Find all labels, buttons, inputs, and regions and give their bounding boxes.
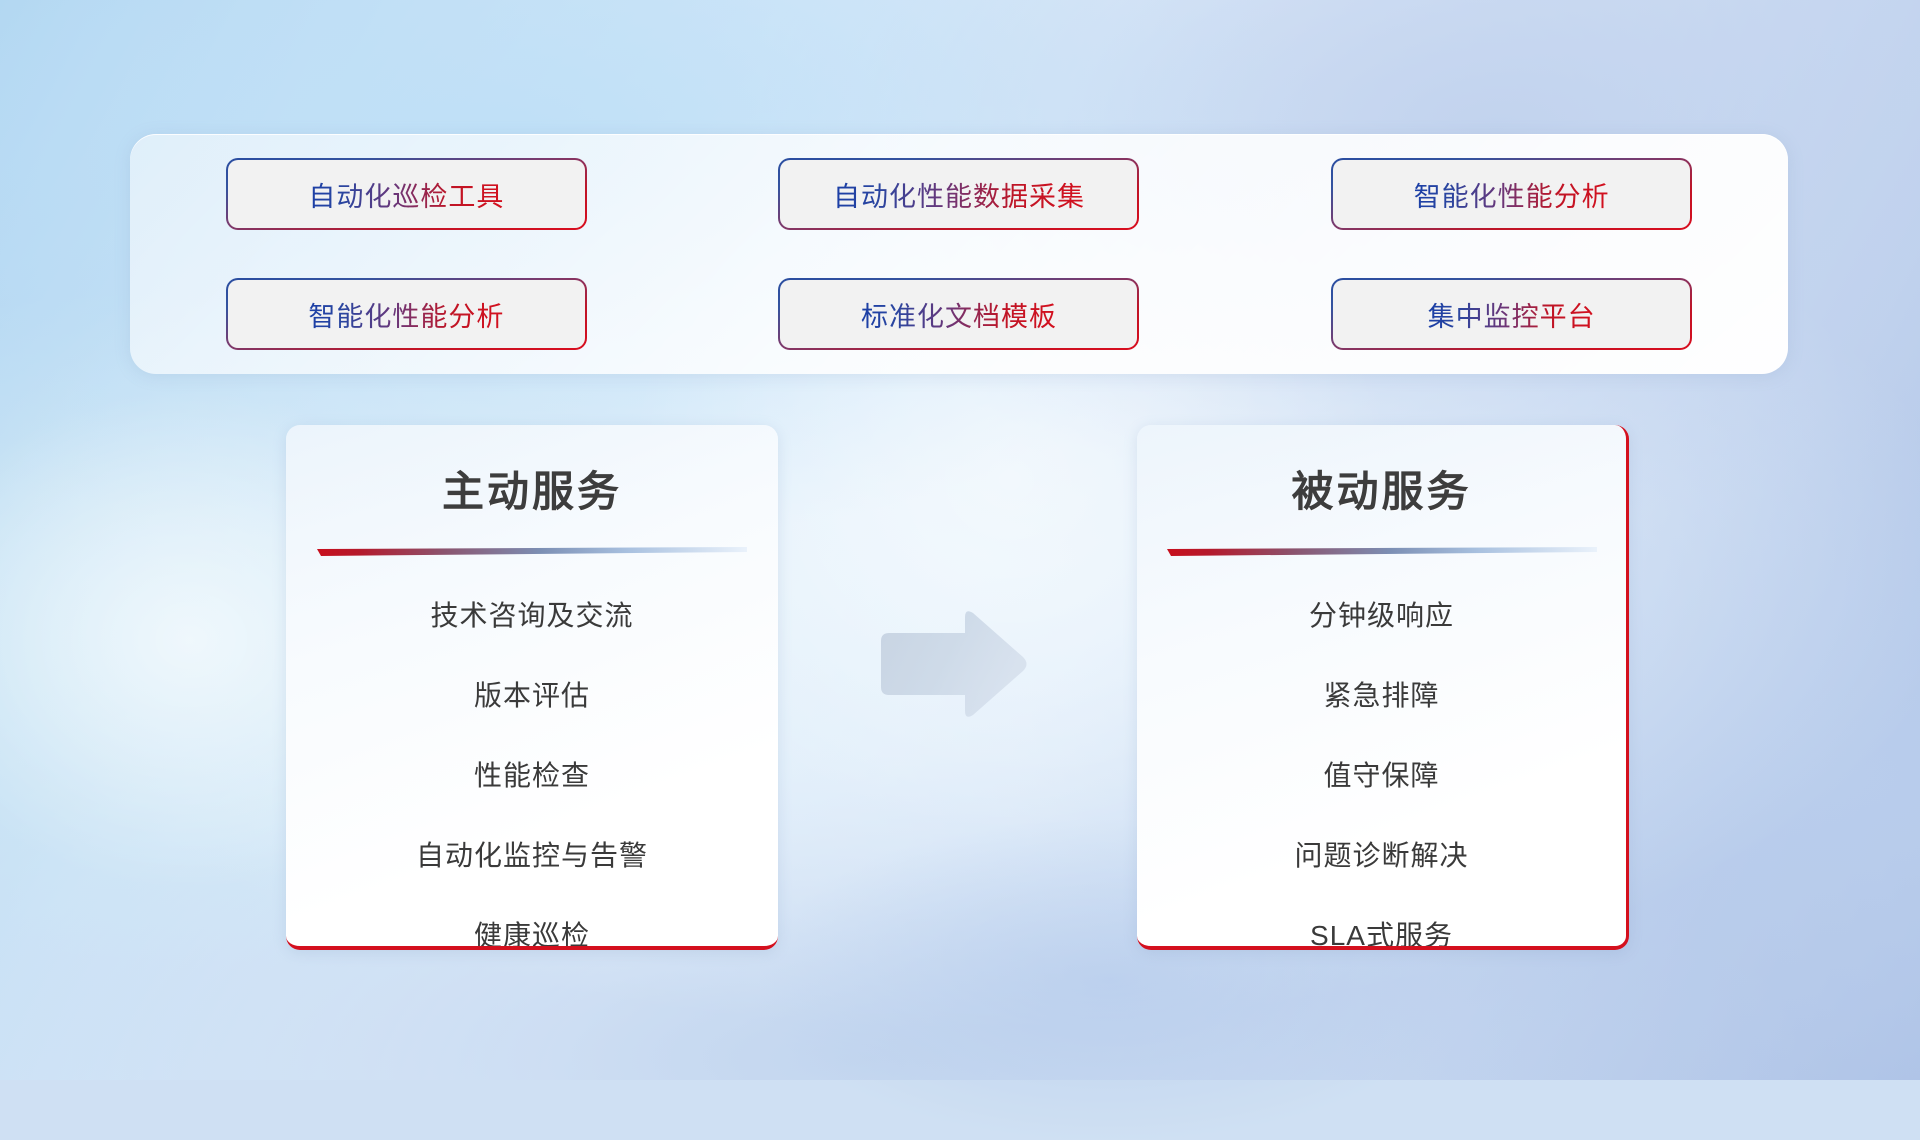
card-item-list: 技术咨询及交流 版本评估 性能检查 自动化监控与告警 健康巡检 <box>286 588 778 950</box>
card-list-item: 技术咨询及交流 <box>430 588 633 644</box>
card-list-item: SLA式服务 <box>1310 908 1453 950</box>
card-list-item: 紧急排障 <box>1323 668 1439 724</box>
card-list-item: 分钟级响应 <box>1309 588 1454 644</box>
capability-tag-label: 自动化巡检工具 <box>308 175 504 214</box>
capability-tag-label: 集中监控平台 <box>1428 295 1596 334</box>
capability-tag[interactable]: 标准化文档模板 <box>780 280 1137 348</box>
card-title: 被动服务 <box>1137 458 1626 519</box>
card-list-item: 自动化监控与告警 <box>416 828 648 884</box>
capability-tag[interactable]: 智能化性能分析 <box>228 280 585 348</box>
card-divider <box>1167 547 1597 556</box>
capability-tag[interactable]: 集中监控平台 <box>1333 280 1690 348</box>
capability-tag-label: 自动化性能数据采集 <box>833 175 1085 214</box>
capability-tag[interactable]: 自动化性能数据采集 <box>780 160 1137 228</box>
arrow-right-icon <box>873 607 1028 722</box>
card-divider <box>317 547 747 556</box>
capability-tag-label: 标准化文档模板 <box>861 295 1057 334</box>
card-list-item: 性能检查 <box>474 748 590 804</box>
service-card-proactive: 主动服务 技术咨询及交流 版本评估 性能检查 自动化监控与告警 健康巡检 <box>286 425 778 950</box>
capability-tags-panel: 自动化巡检工具 自动化性能数据采集 智能化性能分析 智能化性能分析 标准化文档模… <box>130 134 1788 374</box>
capability-tag-label: 智能化性能分析 <box>308 295 504 334</box>
service-card-reactive: 被动服务 分钟级响应 紧急排障 值守保障 问题诊断解决 SLA式服务 <box>1137 425 1629 950</box>
card-item-list: 分钟级响应 紧急排障 值守保障 问题诊断解决 SLA式服务 <box>1137 588 1626 950</box>
card-list-item: 问题诊断解决 <box>1294 828 1468 884</box>
capability-tag-label: 智能化性能分析 <box>1414 175 1610 214</box>
capability-tag[interactable]: 智能化性能分析 <box>1333 160 1690 228</box>
card-list-item: 健康巡检 <box>474 908 590 950</box>
card-list-item: 值守保障 <box>1323 748 1439 804</box>
card-list-item: 版本评估 <box>474 668 590 724</box>
capability-tag[interactable]: 自动化巡检工具 <box>228 160 585 228</box>
card-title: 主动服务 <box>286 458 778 519</box>
